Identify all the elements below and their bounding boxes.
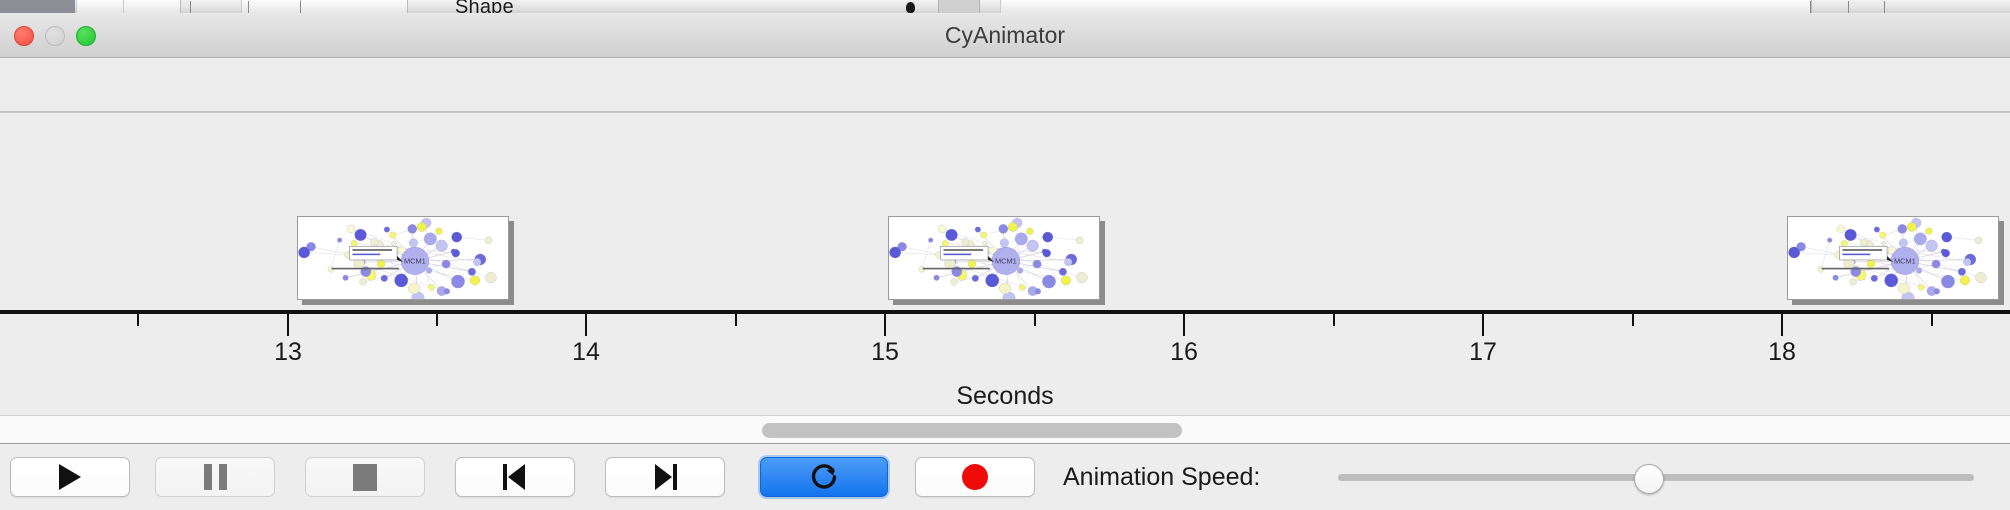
record-icon bbox=[962, 464, 988, 490]
axis-tick-major bbox=[287, 314, 289, 336]
axis-tick-minor bbox=[735, 314, 737, 326]
network-thumbnail: MCM1 bbox=[298, 217, 508, 299]
play-button[interactable] bbox=[10, 457, 130, 497]
background-tab bbox=[300, 0, 408, 13]
axis-tick-major bbox=[585, 314, 587, 336]
axis-tick-minor bbox=[137, 314, 139, 326]
frames-strip[interactable]: MCM1MCM1MCM1 bbox=[0, 112, 2010, 310]
playback-controls: Animation Speed: bbox=[0, 444, 2010, 510]
skip-start-button[interactable] bbox=[455, 457, 575, 497]
timeline-frame[interactable]: MCM1 bbox=[297, 216, 509, 300]
background-tab bbox=[76, 0, 124, 13]
timeline-axis[interactable]: 2131415161718 Seconds bbox=[0, 310, 2010, 415]
background-marker bbox=[906, 2, 915, 13]
record-button[interactable] bbox=[915, 457, 1035, 497]
axis-tick-major bbox=[1781, 314, 1783, 336]
axis-tick-major bbox=[1183, 314, 1185, 336]
skip-end-button[interactable] bbox=[605, 457, 725, 497]
animation-speed-label: Animation Speed: bbox=[1063, 457, 1260, 497]
axis-tick-label: 13 bbox=[274, 338, 302, 367]
background-selected-tab bbox=[0, 0, 75, 13]
axis-tick-minor bbox=[1333, 314, 1335, 326]
axis-tick-minor bbox=[436, 314, 438, 326]
svg-text:MCM1: MCM1 bbox=[404, 257, 426, 266]
skip-start-icon bbox=[502, 464, 528, 490]
frame-thumbnail[interactable]: MCM1 bbox=[1787, 216, 1999, 300]
background-window-sliver: Shape bbox=[0, 0, 2010, 13]
axis-line bbox=[0, 310, 2010, 314]
svg-text:MCM1: MCM1 bbox=[995, 257, 1017, 266]
background-tab bbox=[1000, 0, 1812, 13]
loop-icon bbox=[809, 462, 839, 492]
play-icon bbox=[59, 464, 81, 490]
animation-speed-slider[interactable] bbox=[1338, 457, 1974, 497]
timeline-scrollbar[interactable] bbox=[0, 415, 2010, 444]
background-tab bbox=[241, 0, 301, 13]
axis-tick-minor bbox=[1931, 314, 1933, 326]
frame-toolbar: Clear All Frames bbox=[0, 58, 2010, 112]
axis-tick-label: 18 bbox=[1768, 338, 1796, 367]
stop-icon bbox=[353, 464, 377, 491]
frame-thumbnail[interactable]: MCM1 bbox=[888, 216, 1100, 300]
pause-button[interactable] bbox=[155, 457, 275, 497]
loop-button[interactable] bbox=[760, 457, 888, 497]
frame-thumbnail[interactable]: MCM1 bbox=[297, 216, 509, 300]
timeline-frame[interactable]: MCM1 bbox=[888, 216, 1100, 300]
background-panel bbox=[938, 0, 980, 13]
slider-knob[interactable] bbox=[1634, 464, 1664, 494]
axis-tick-minor bbox=[1632, 314, 1634, 326]
axis-tick-label: 17 bbox=[1469, 338, 1497, 367]
skip-end-icon bbox=[652, 464, 678, 490]
network-thumbnail: MCM1 bbox=[1788, 217, 1998, 299]
background-window-label: Shape bbox=[455, 0, 514, 13]
background-tab bbox=[123, 0, 181, 13]
axis-title: Seconds bbox=[0, 382, 2010, 411]
pause-icon bbox=[204, 464, 227, 490]
cyanimator-window: Shape CyAnimator Clear All Frames MCM1MC… bbox=[0, 0, 2010, 510]
network-thumbnail: MCM1 bbox=[889, 217, 1099, 299]
axis-tick-label: 15 bbox=[871, 338, 899, 367]
svg-text:MCM1: MCM1 bbox=[1894, 257, 1916, 266]
axis-tick-major bbox=[1482, 314, 1484, 336]
scrollbar-thumb[interactable] bbox=[762, 423, 1182, 438]
axis-tick-major bbox=[884, 314, 886, 336]
title-bar[interactable]: CyAnimator bbox=[0, 13, 2010, 58]
axis-tick-label: 16 bbox=[1170, 338, 1198, 367]
axis-tick-minor bbox=[1034, 314, 1036, 326]
window-title: CyAnimator bbox=[0, 13, 2010, 58]
axis-tick-label: 14 bbox=[572, 338, 600, 367]
timeline-frame[interactable]: MCM1 bbox=[1787, 216, 1999, 300]
stop-button[interactable] bbox=[305, 457, 425, 497]
